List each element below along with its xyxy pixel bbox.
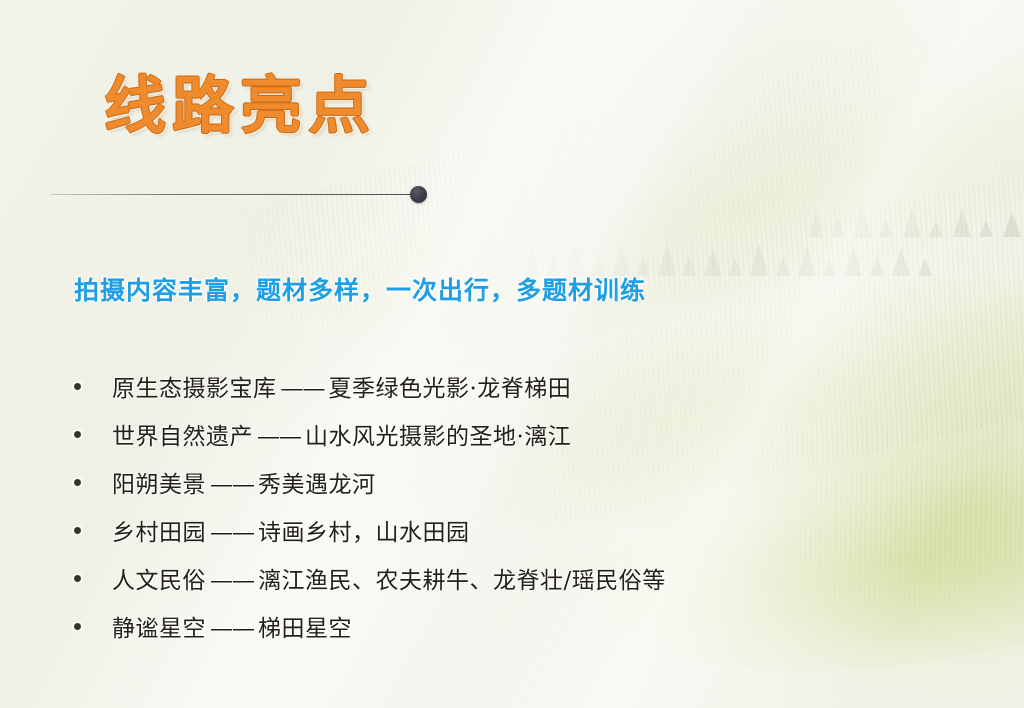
list-item-text: 人文民俗——漓江渔民、农夫耕牛、龙脊壮/瑶民俗等 xyxy=(112,561,666,595)
list-item-text: 原生态摄影宝库——夏季绿色光影·龙脊梯田 xyxy=(112,369,571,403)
section-subtitle: 拍摄内容丰富，题材多样，一次出行，多题材训练 xyxy=(74,271,646,307)
list-item-separator: —— xyxy=(206,616,258,642)
list-item-text: 世界自然遗产——山水风光摄影的圣地·漓江 xyxy=(112,417,571,451)
list-item-text: 阳朔美景——秀美遇龙河 xyxy=(112,465,376,499)
list-item-detail: 秀美遇龙河 xyxy=(258,472,376,498)
terrace-slope-upper xyxy=(297,34,1024,406)
list-item-separator: —— xyxy=(206,520,258,546)
bullet-dot-icon xyxy=(74,383,81,390)
bullet-dot-icon xyxy=(74,623,81,630)
list-item-topic: 静谧星空 xyxy=(112,616,206,642)
bullet-dot-icon xyxy=(74,575,81,582)
title-divider xyxy=(50,185,430,205)
list-item: 乡村田园——诗画乡村，山水田园 xyxy=(70,506,950,554)
list-item: 阳朔美景——秀美遇龙河 xyxy=(70,458,950,506)
list-item-detail: 诗画乡村，山水田园 xyxy=(258,520,470,546)
list-item-separator: —— xyxy=(253,424,305,450)
list-item-text: 静谧星空——梯田星空 xyxy=(112,609,352,643)
slide-canvas: 线路亮点 拍摄内容丰富，题材多样，一次出行，多题材训练 原生态摄影宝库——夏季绿… xyxy=(0,0,1024,708)
list-item-topic: 阳朔美景 xyxy=(112,472,206,498)
list-item: 静谧星空——梯田星空 xyxy=(70,602,950,650)
list-item-topic: 原生态摄影宝库 xyxy=(112,376,277,402)
list-item-detail: 漓江渔民、农夫耕牛、龙脊壮/瑶民俗等 xyxy=(258,568,666,594)
list-item-text: 乡村田园——诗画乡村，山水田园 xyxy=(112,513,470,547)
list-item: 原生态摄影宝库——夏季绿色光影·龙脊梯田 xyxy=(70,362,950,410)
divider-end-dot-icon xyxy=(410,186,427,203)
bullet-dot-icon xyxy=(74,431,81,438)
list-item-topic: 乡村田园 xyxy=(112,520,206,546)
treeline-icon xyxy=(520,230,940,276)
bullet-dot-icon xyxy=(74,479,81,486)
list-item-separator: —— xyxy=(277,376,329,402)
list-item-topic: 世界自然遗产 xyxy=(112,424,253,450)
list-item-detail: 梯田星空 xyxy=(258,616,352,642)
list-item-detail: 夏季绿色光影·龙脊梯田 xyxy=(329,376,572,402)
list-item-separator: —— xyxy=(206,568,258,594)
list-item-detail: 山水风光摄影的圣地·漓江 xyxy=(305,424,571,450)
bullet-dot-icon xyxy=(74,527,81,534)
list-item: 人文民俗——漓江渔民、农夫耕牛、龙脊壮/瑶民俗等 xyxy=(70,554,950,602)
divider-line xyxy=(50,194,418,195)
list-item-topic: 人文民俗 xyxy=(112,568,206,594)
highlights-list: 原生态摄影宝库——夏季绿色光影·龙脊梯田 世界自然遗产——山水风光摄影的圣地·漓… xyxy=(70,362,950,650)
list-item: 世界自然遗产——山水风光摄影的圣地·漓江 xyxy=(70,410,950,458)
page-title: 线路亮点 xyxy=(104,70,376,141)
list-item-separator: —— xyxy=(206,472,258,498)
treeline-right-icon xyxy=(805,195,1024,237)
